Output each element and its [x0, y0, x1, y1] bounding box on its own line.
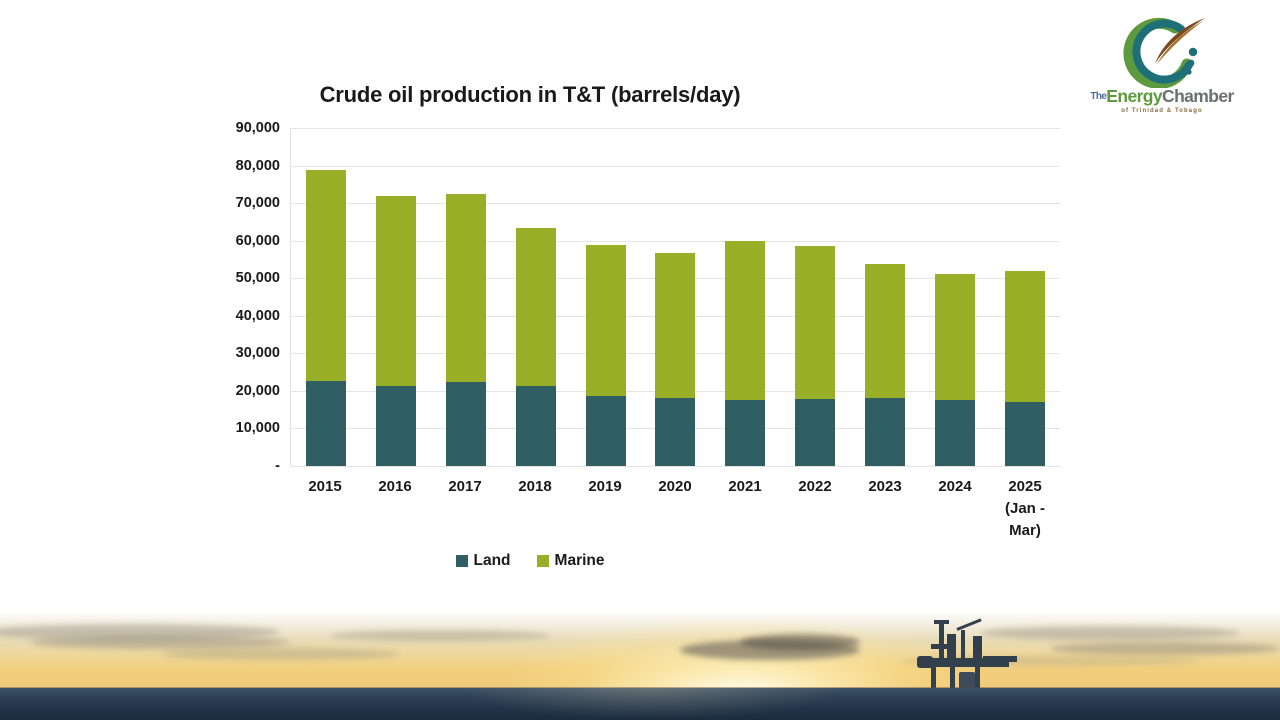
x-axis-tick-label: 2020: [640, 476, 710, 546]
bar-slot: [920, 128, 990, 466]
stacked-bar[interactable]: [865, 264, 905, 466]
y-axis-tick-label: -: [275, 458, 280, 474]
x-axis-tick-label: 2018: [500, 476, 570, 546]
bar-segment-marine[interactable]: [446, 194, 486, 381]
bar-segment-marine[interactable]: [516, 228, 556, 386]
x-axis: 2015201620172018201920202021202220232024…: [290, 476, 1060, 546]
y-axis-tick-label: 10,000: [236, 420, 280, 436]
stacked-bar[interactable]: [725, 241, 765, 466]
logo-energy: Energy: [1106, 86, 1162, 106]
bar-segment-marine[interactable]: [376, 196, 416, 386]
stacked-bar[interactable]: [516, 228, 556, 466]
chamber-swoosh-icon: [1105, 12, 1217, 88]
bar-series: [291, 128, 1060, 466]
x-axis-tick-label: 2019: [570, 476, 640, 546]
bar-slot: [501, 128, 571, 466]
x-axis-tick-label: 2023: [850, 476, 920, 546]
bar-segment-marine[interactable]: [1005, 271, 1045, 402]
bar-slot: [710, 128, 780, 466]
legend-item-marine[interactable]: Marine: [537, 552, 605, 570]
bar-segment-land[interactable]: [655, 398, 695, 466]
bar-segment-land[interactable]: [446, 382, 486, 467]
y-axis-tick-label: 80,000: [236, 158, 280, 174]
bar-slot: [291, 128, 361, 466]
bar-segment-land[interactable]: [725, 400, 765, 466]
y-axis-tick-label: 20,000: [236, 383, 280, 399]
stacked-bar[interactable]: [446, 194, 486, 466]
energy-chamber-logo: TheEnergyChamber of Trinidad & Tobago: [1083, 12, 1241, 120]
cloud: [330, 630, 550, 641]
stacked-bar[interactable]: [586, 245, 626, 466]
legend-label: Marine: [555, 552, 605, 570]
cloud: [30, 636, 290, 649]
bar-slot: [361, 128, 431, 466]
cloud: [1050, 642, 1280, 655]
bar-segment-marine[interactable]: [655, 253, 695, 398]
x-axis-tick-label: 2025(Jan -Mar): [990, 476, 1060, 546]
stacked-bar[interactable]: [1005, 271, 1045, 466]
y-axis-tick-label: 30,000: [236, 345, 280, 361]
logo-wordmark: TheEnergyChamber of Trinidad & Tobago: [1083, 88, 1241, 114]
offshore-sunset-photo: [0, 614, 1280, 720]
bar-segment-marine[interactable]: [795, 246, 835, 398]
plot-canvas: [290, 128, 1060, 466]
bar-segment-marine[interactable]: [306, 170, 346, 381]
bar-segment-land[interactable]: [1005, 402, 1045, 466]
bar-segment-land[interactable]: [795, 399, 835, 466]
bar-segment-marine[interactable]: [725, 241, 765, 400]
y-axis: 90,00080,00070,00060,00050,00040,00030,0…: [205, 118, 290, 474]
stacked-bar[interactable]: [795, 246, 835, 466]
bar-segment-marine[interactable]: [935, 274, 975, 400]
bar-slot: [780, 128, 850, 466]
x-axis-tick-label: 2022: [780, 476, 850, 546]
stacked-bar[interactable]: [935, 274, 975, 466]
chart-title: Crude oil production in T&T (barrels/day…: [0, 82, 1060, 108]
x-axis-tick-label: 2017: [430, 476, 500, 546]
oil-rig-silhouette: [917, 618, 1023, 690]
chart-plot-area: 90,00080,00070,00060,00050,00040,00030,0…: [205, 118, 1060, 474]
x-axis-tick-label: 2021: [710, 476, 780, 546]
y-axis-tick-label: 90,000: [236, 120, 280, 136]
cloud: [160, 648, 400, 660]
legend-swatch-icon: [537, 555, 549, 567]
stacked-bar[interactable]: [306, 170, 346, 466]
gridline: [291, 466, 1060, 467]
y-axis-tick-label: 40,000: [236, 308, 280, 324]
bar-slot: [850, 128, 920, 466]
bar-segment-marine[interactable]: [586, 245, 626, 396]
y-axis-tick-label: 50,000: [236, 270, 280, 286]
chart-legend: LandMarine: [0, 552, 1060, 570]
cloud: [740, 634, 860, 650]
bar-slot: [431, 128, 501, 466]
legend-item-land[interactable]: Land: [456, 552, 511, 570]
bar-segment-land[interactable]: [376, 386, 416, 466]
logo-subtitle: of Trinidad & Tobago: [1083, 108, 1241, 114]
bar-segment-land[interactable]: [865, 398, 905, 466]
y-axis-tick-label: 60,000: [236, 233, 280, 249]
bar-segment-land[interactable]: [306, 381, 346, 466]
bar-slot: [571, 128, 641, 466]
legend-label: Land: [474, 552, 511, 570]
bar-segment-land[interactable]: [935, 400, 975, 466]
legend-swatch-icon: [456, 555, 468, 567]
logo-chamber: Chamber: [1162, 86, 1234, 106]
slide: TheEnergyChamber of Trinidad & Tobago Cr…: [0, 0, 1280, 720]
stacked-bar[interactable]: [655, 253, 695, 466]
bar-slot: [641, 128, 711, 466]
bar-slot: [990, 128, 1060, 466]
x-axis-tick-label: 2016: [360, 476, 430, 546]
bar-segment-marine[interactable]: [865, 264, 905, 397]
y-axis-tick-label: 70,000: [236, 195, 280, 211]
stacked-bar[interactable]: [376, 196, 416, 466]
logo-the: The: [1090, 91, 1106, 102]
x-axis-tick-label: 2024: [920, 476, 990, 546]
x-axis-tick-label: 2015: [290, 476, 360, 546]
bar-segment-land[interactable]: [586, 396, 626, 466]
sea-reflection: [461, 688, 841, 720]
bar-segment-land[interactable]: [516, 386, 556, 466]
